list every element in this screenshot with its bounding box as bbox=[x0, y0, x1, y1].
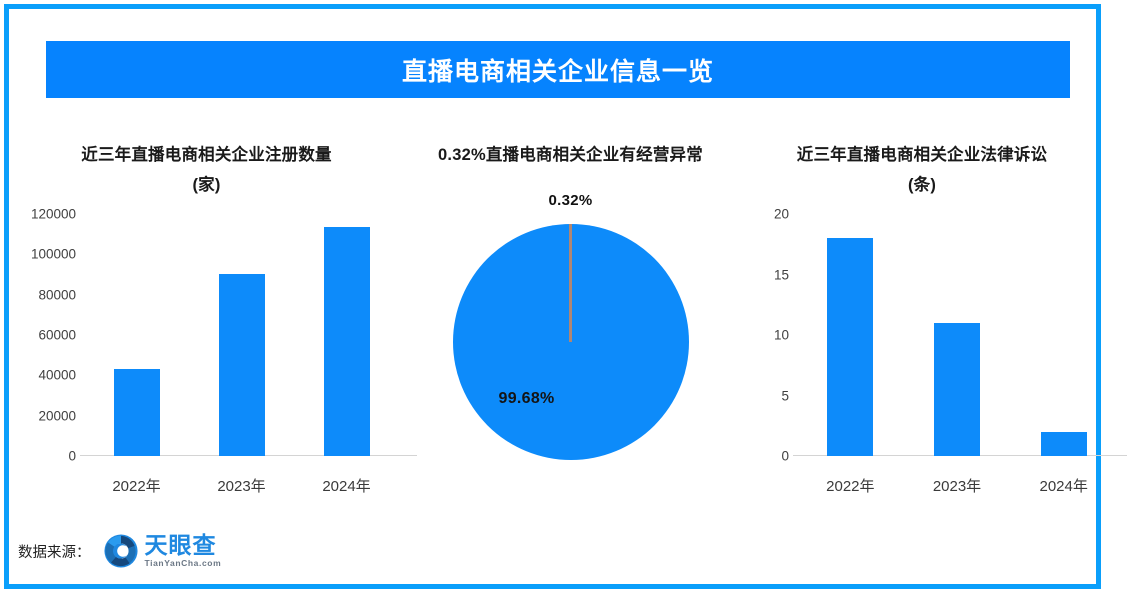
bar-chart-lawsuits: 20151050 2022年2023年2024年 bbox=[727, 214, 1117, 510]
title-banner: 直播电商相关企业信息一览 bbox=[46, 41, 1070, 98]
y-tick-label: 80000 bbox=[38, 287, 76, 302]
y-tick-label: 15 bbox=[774, 267, 789, 282]
bar-slot bbox=[294, 214, 399, 456]
bar-slot bbox=[797, 214, 904, 456]
bar-slot bbox=[904, 214, 1011, 456]
bar bbox=[114, 369, 160, 456]
plot-area-lawsuits bbox=[797, 214, 1117, 456]
y-tick-label: 0 bbox=[781, 449, 789, 464]
bar-series-lawsuits bbox=[797, 214, 1117, 456]
x-tick-label: 2024年 bbox=[1010, 475, 1117, 496]
y-tick-label: 100000 bbox=[31, 247, 76, 262]
x-axis-registrations: 2022年2023年2024年 bbox=[84, 475, 399, 496]
y-axis-registrations: 120000100000800006000040000200000 bbox=[14, 214, 76, 510]
x-tick-label: 2024年 bbox=[294, 475, 399, 496]
chart-title-registrations-line1: 近三年直播电商相关企业注册数量 bbox=[81, 146, 332, 164]
x-tick-label: 2022年 bbox=[84, 475, 189, 496]
y-tick-label: 120000 bbox=[31, 207, 76, 222]
bar bbox=[827, 238, 873, 456]
bar bbox=[324, 227, 370, 456]
pie-chart-abnormal: 0.32% 99.68% bbox=[398, 188, 743, 478]
tianyancha-eye-icon bbox=[103, 533, 139, 569]
data-source-label: 数据来源： bbox=[18, 541, 91, 562]
y-tick-label: 40000 bbox=[38, 368, 76, 383]
tianyancha-name-en: TianYanCha.com bbox=[145, 559, 222, 568]
bar-slot bbox=[189, 214, 294, 456]
plot-area-registrations bbox=[84, 214, 399, 456]
tianyancha-logo: 天眼查 TianYanCha.com bbox=[103, 533, 222, 569]
bar bbox=[934, 323, 980, 456]
y-axis-lawsuits: 20151050 bbox=[727, 214, 789, 510]
y-tick-label: 20000 bbox=[38, 408, 76, 423]
x-tick-label: 2022年 bbox=[797, 475, 904, 496]
infographic-page: 直播电商相关企业信息一览 近三年直播电商相关企业注册数量 (家) 1200001… bbox=[0, 0, 1127, 601]
bar-slot bbox=[84, 214, 189, 456]
x-axis-lawsuits: 2022年2023年2024年 bbox=[797, 475, 1117, 496]
frame-border-bottom bbox=[4, 584, 1101, 589]
x-tick-label: 2023年 bbox=[189, 475, 294, 496]
panel-lawsuits: 近三年直播电商相关企业法律诉讼 (条) 20151050 2022年2023年2… bbox=[727, 140, 1117, 520]
footer: 数据来源： 天眼查 TianYanCha.com bbox=[18, 533, 221, 569]
bar-slot bbox=[1010, 214, 1117, 456]
chart-title-lawsuits: 近三年直播电商相关企业法律诉讼 (条) bbox=[727, 140, 1117, 200]
y-tick-label: 60000 bbox=[38, 328, 76, 343]
bar-chart-registrations: 120000100000800006000040000200000 2022年2… bbox=[14, 214, 399, 510]
y-tick-label: 5 bbox=[781, 388, 789, 403]
frame-border-left bbox=[4, 4, 9, 589]
y-tick-label: 0 bbox=[68, 449, 76, 464]
x-tick-label: 2023年 bbox=[904, 475, 1011, 496]
pie-slice-normal bbox=[453, 224, 689, 460]
bar bbox=[1041, 432, 1087, 456]
page-title: 直播电商相关企业信息一览 bbox=[402, 52, 714, 88]
pie-label-abnormal: 0.32% bbox=[398, 192, 743, 209]
pie-slice-abnormal bbox=[569, 224, 572, 342]
panel-abnormal: 0.32%直播电商相关企业有经营异常 0.32% 99.68% bbox=[398, 140, 743, 520]
chart-title-lawsuits-line1: 近三年直播电商相关企业法律诉讼 bbox=[797, 146, 1048, 164]
panel-registrations: 近三年直播电商相关企业注册数量 (家) 12000010000080000600… bbox=[14, 140, 399, 520]
bar-series-registrations bbox=[84, 214, 399, 456]
chart-title-lawsuits-line2: (条) bbox=[727, 170, 1117, 200]
chart-title-registrations-line2: (家) bbox=[14, 170, 399, 200]
bar bbox=[219, 274, 265, 457]
frame-border-top bbox=[4, 4, 1101, 9]
tianyancha-wordmark: 天眼查 TianYanCha.com bbox=[145, 534, 222, 568]
y-tick-label: 10 bbox=[774, 328, 789, 343]
y-tick-label: 20 bbox=[774, 207, 789, 222]
chart-title-abnormal: 0.32%直播电商相关企业有经营异常 bbox=[398, 140, 743, 170]
chart-title-registrations: 近三年直播电商相关企业注册数量 (家) bbox=[14, 140, 399, 200]
tianyancha-name-cn: 天眼查 bbox=[145, 534, 222, 557]
